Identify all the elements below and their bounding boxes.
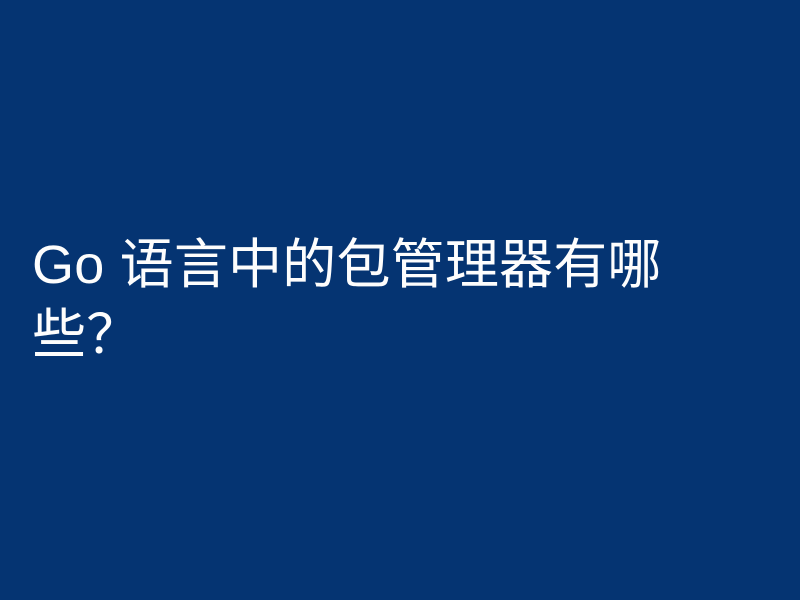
page-title: Go 语言中的包管理器有哪些？	[32, 230, 742, 370]
title-block: Go 语言中的包管理器有哪些？	[0, 0, 800, 600]
title-card: Go 语言中的包管理器有哪些？	[0, 0, 800, 600]
